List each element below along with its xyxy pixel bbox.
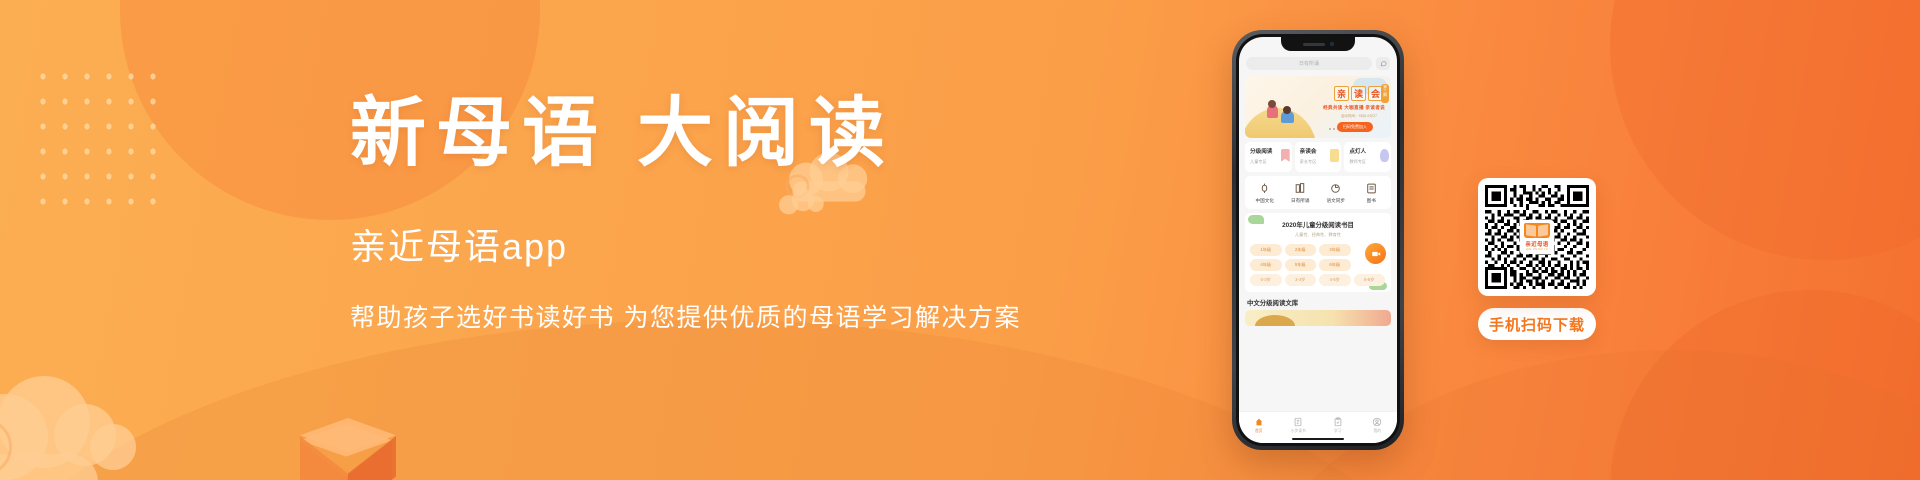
age-tag[interactable]: 3-4岁 (1285, 274, 1317, 286)
quick-link-label: 日有所诵 (1283, 198, 1319, 204)
search-input[interactable]: 日有所诵 (1246, 57, 1372, 70)
app-category-cards: 分级阅读 儿童专区 亲读会 家长专区 点灯人 教师专区 (1245, 142, 1391, 172)
hero-child-illustration-1 (1267, 105, 1278, 118)
decorative-cube (300, 424, 392, 480)
card-parent-club[interactable]: 亲读会 家长专区 (1295, 142, 1342, 172)
tab-home[interactable]: 首页 (1239, 417, 1279, 434)
banner-subhead: 亲近母语app (350, 225, 1050, 268)
video-play-icon[interactable] (1365, 243, 1386, 264)
ruyi-cloud-icon (0, 376, 192, 480)
lantern-icon (1258, 182, 1271, 195)
phone-mockup: 日有所诵 亲 读 会 (1232, 30, 1404, 450)
download-button[interactable]: 手机扫码下载 (1478, 308, 1596, 340)
hero-join-button[interactable]: 扫码免费加入 (1337, 122, 1373, 132)
card-graded-reading[interactable]: 分级阅读 儿童专区 (1245, 142, 1292, 172)
list-icon (1293, 417, 1303, 427)
decorative-circle-top-right (1610, 0, 1920, 260)
card-teacher-zone[interactable]: 点灯人 教师专区 (1344, 142, 1391, 172)
grade-tag[interactable]: 6年级 (1319, 259, 1351, 271)
tab-label: 小步读书 (1279, 429, 1319, 434)
hero-subtitle: 经典共读 大咖直播 亲读者说 (1323, 105, 1385, 111)
app-hero-banner[interactable]: 亲 读 会 第三期 经典共读 大咖直播 亲读者说 活动时间：9月6-9月27 扫… (1245, 76, 1391, 138)
camera-icon (1330, 42, 1334, 46)
quick-link-daily-recitation[interactable]: 日有所诵 (1283, 182, 1319, 204)
speaker-icon (1303, 43, 1325, 46)
age-tag[interactable]: 5-6岁 (1354, 274, 1386, 286)
booklist-subtitle: 儿童性、经典性、教育性 (1250, 232, 1386, 238)
quick-link-label: 中国文化 (1247, 198, 1283, 204)
message-icon[interactable] (1376, 57, 1390, 70)
booklist-title: 2020年儿童分级阅读书目 (1250, 220, 1386, 229)
quick-link-books[interactable]: 图书 (1354, 182, 1390, 204)
tab-label: 首页 (1239, 429, 1279, 434)
qr-center-logo: 亲近母语 QIN JIN MU YU (1520, 220, 1554, 254)
circle-arrow-icon (1329, 182, 1342, 195)
hero-title-char: 读 (1351, 86, 1366, 101)
home-icon (1254, 417, 1264, 427)
tab-label: 我的 (1358, 429, 1398, 434)
promo-banner: 新母语 大阅读 亲近母语app 帮助孩子选好书读好书 为您提供优质的母语学习解决… (0, 0, 1920, 480)
clipboard-icon (1333, 417, 1343, 427)
qr-download-block: 亲近母语 QIN JIN MU YU 手机扫码下载 (1478, 178, 1596, 340)
decorative-dot-grid (30, 62, 170, 217)
age-tag[interactable]: 4-5岁 (1319, 274, 1351, 286)
library-cover-strip[interactable] (1245, 310, 1391, 326)
library-title: 中文分级阅读文库 (1247, 298, 1389, 307)
phone-screen: 日有所诵 亲 读 会 (1239, 37, 1397, 443)
qr-code-card[interactable]: 亲近母语 QIN JIN MU YU (1478, 178, 1596, 296)
tab-reading[interactable]: 小步读书 (1279, 417, 1319, 434)
quick-link-label: 图书 (1354, 198, 1390, 204)
banner-copy: 新母语 大阅读 亲近母语app 帮助孩子选好书读好书 为您提供优质的母语学习解决… (350, 92, 1050, 334)
hero-badge: 第三期 (1381, 84, 1389, 103)
quick-link-textbook-sync[interactable]: 语文同步 (1318, 182, 1354, 204)
user-icon (1372, 417, 1382, 427)
note-icon (1330, 149, 1339, 162)
quick-link-chinese-culture[interactable]: 中国文化 (1247, 182, 1283, 204)
hero-time: 活动时间：9月6-9月27 (1341, 114, 1377, 119)
banner-tagline: 帮助孩子选好书读好书 为您提供优质的母语学习解决方案 (350, 298, 1050, 334)
app-booklist-section: 2020年儿童分级阅读书目 儿童性、经典性、教育性 1年级 2年级 3年级 4年… (1245, 213, 1391, 292)
grade-tag[interactable]: 2年级 (1285, 244, 1317, 256)
grade-tag[interactable]: 4年级 (1250, 259, 1282, 271)
banner-headline: 新母语 大阅读 (350, 92, 1050, 177)
phone-bezel: 日有所诵 亲 读 会 (1236, 34, 1400, 446)
tab-profile[interactable]: 我的 (1358, 417, 1398, 434)
home-indicator (1292, 438, 1344, 441)
app-quick-links: 中国文化 日有所诵 (1245, 176, 1391, 209)
books-icon (1294, 182, 1307, 195)
book-icon (1365, 182, 1378, 195)
grade-tag[interactable]: 1年级 (1250, 244, 1282, 256)
logo-pinyin: QIN JIN MU YU (1526, 248, 1548, 251)
quick-link-label: 语文同步 (1318, 198, 1354, 204)
hero-title: 亲 读 会 (1334, 86, 1383, 101)
logo-name: 亲近母语 (1525, 240, 1548, 248)
hero-title-char: 亲 (1334, 86, 1349, 101)
age-tag[interactable]: 0-3岁 (1250, 274, 1282, 286)
tab-study[interactable]: 学习 (1318, 417, 1358, 434)
grade-tag[interactable]: 5年级 (1285, 259, 1317, 271)
decorative-circle-bottom-right (1610, 290, 1920, 480)
phone-notch (1281, 37, 1355, 51)
hero-child-illustration-2 (1281, 111, 1294, 123)
tab-label: 学习 (1318, 429, 1358, 434)
cloud-icon (1380, 149, 1389, 162)
leaf-icon (1248, 215, 1264, 224)
grade-tag[interactable]: 3年级 (1319, 244, 1351, 256)
book-logo-icon (1524, 223, 1550, 238)
decorative-cube-right (300, 418, 396, 480)
